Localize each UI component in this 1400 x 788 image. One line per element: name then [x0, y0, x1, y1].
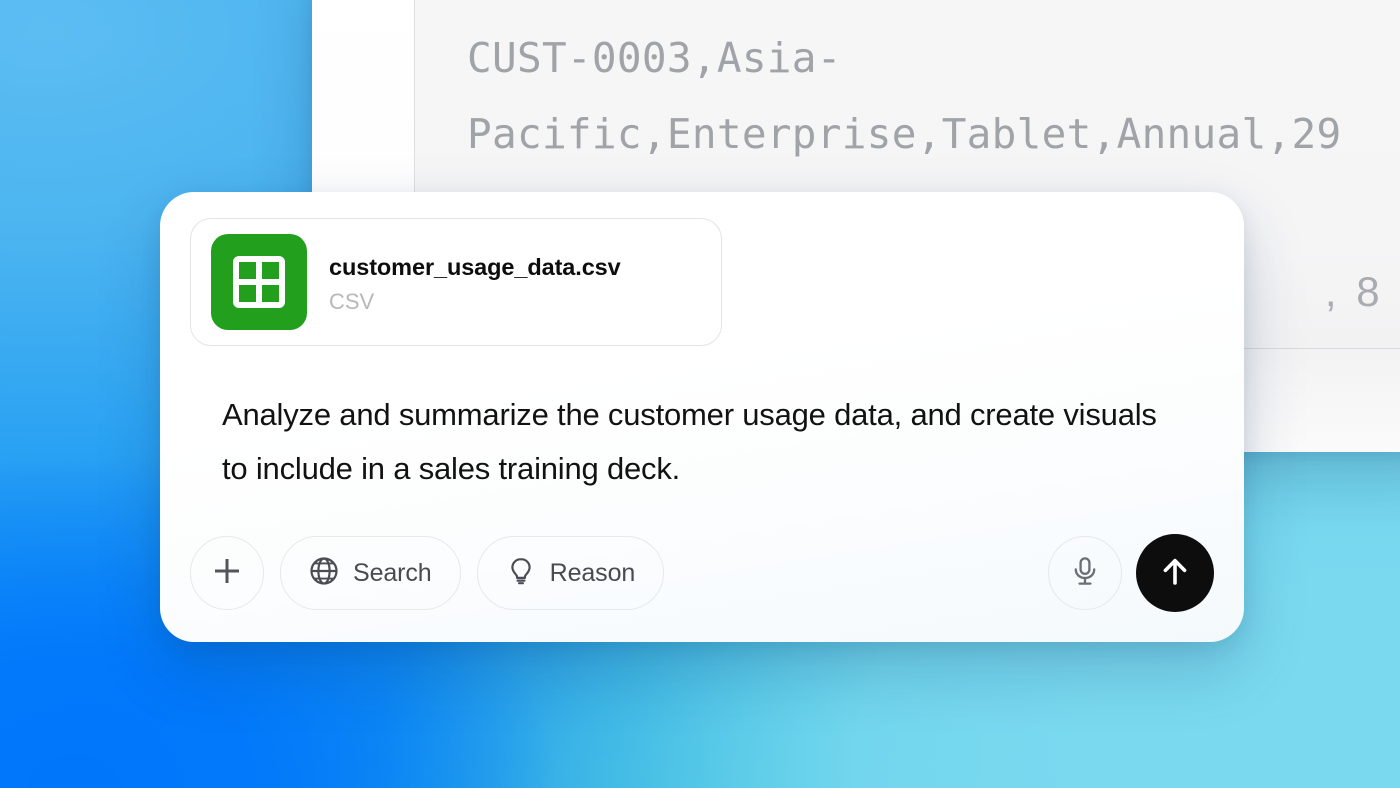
composer-toolbar-right [1048, 534, 1214, 612]
csv-preview-line-1: CUST-0003,Asia- [467, 20, 1400, 96]
lightbulb-icon [506, 556, 536, 591]
plus-icon [211, 555, 243, 592]
voice-input-button[interactable] [1048, 536, 1122, 610]
send-button[interactable] [1136, 534, 1214, 612]
screen: CUST-0003,Asia- Pacific,Enterprise,Table… [0, 0, 1400, 788]
csv-preview-line-2: Pacific,Enterprise,Tablet,Annual,29 [467, 96, 1400, 172]
add-attachment-button[interactable] [190, 536, 264, 610]
attachment-file-type: CSV [329, 289, 621, 315]
search-button-label: Search [353, 559, 432, 588]
attachment-chip[interactable]: customer_usage_data.csv CSV [190, 218, 722, 346]
globe-icon [309, 556, 339, 591]
reason-button-label: Reason [550, 559, 636, 588]
attachment-meta: customer_usage_data.csv CSV [329, 249, 621, 315]
prompt-composer-card[interactable]: customer_usage_data.csv CSV Analyze and … [160, 192, 1244, 642]
attachment-file-name: customer_usage_data.csv [329, 249, 621, 285]
search-button[interactable]: Search [280, 536, 461, 610]
prompt-input-text[interactable]: Analyze and summarize the customer usage… [222, 388, 1182, 496]
arrow-up-icon [1157, 553, 1193, 594]
composer-toolbar-left: Search Reason [190, 536, 664, 610]
spreadsheet-grid-icon [211, 234, 307, 330]
composer-toolbar: Search Reason [190, 536, 1214, 610]
reason-button[interactable]: Reason [477, 536, 665, 610]
csv-preview-tail: , 8 56 [1325, 268, 1400, 316]
microphone-icon [1069, 555, 1101, 592]
